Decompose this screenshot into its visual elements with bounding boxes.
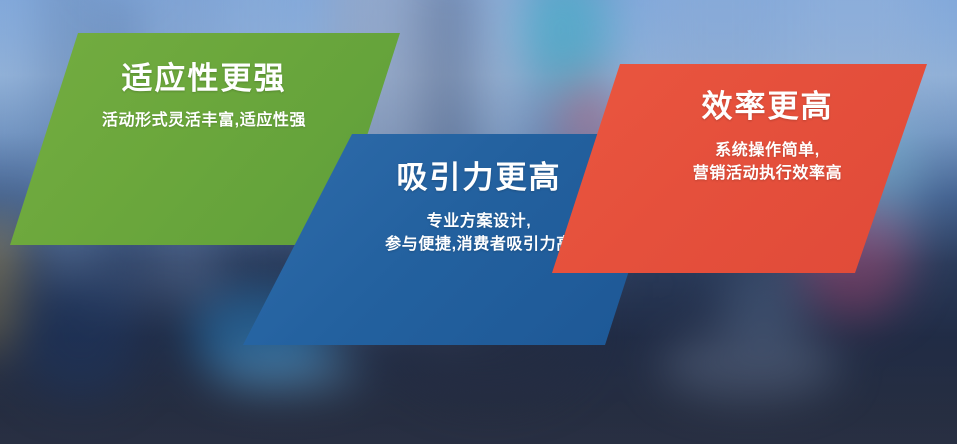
panel-content-adaptability: 适应性更强 活动形式灵活丰富,适应性强: [0, 33, 400, 132]
panel-subtitle-line: 系统操作简单,: [608, 139, 927, 162]
panel-subtitle-efficiency: 系统操作简单, 营销活动执行效率高: [608, 139, 927, 185]
feature-panel-efficiency[interactable]: 效率更高 系统操作简单, 营销活动执行效率高: [552, 64, 927, 273]
panel-subtitle-line: 活动形式灵活丰富,适应性强: [8, 109, 400, 132]
banner-stage: 适应性更强 活动形式灵活丰富,适应性强 吸引力更高 专业方案设计, 参与便捷,消…: [0, 0, 957, 444]
panel-subtitle-adaptability: 活动形式灵活丰富,适应性强: [8, 109, 400, 132]
panel-title-efficiency: 效率更高: [608, 89, 927, 125]
panel-content-efficiency: 效率更高 系统操作简单, 营销活动执行效率高: [552, 64, 927, 185]
panel-title-adaptability: 适应性更强: [8, 61, 400, 97]
panel-subtitle-line: 营销活动执行效率高: [608, 162, 927, 185]
